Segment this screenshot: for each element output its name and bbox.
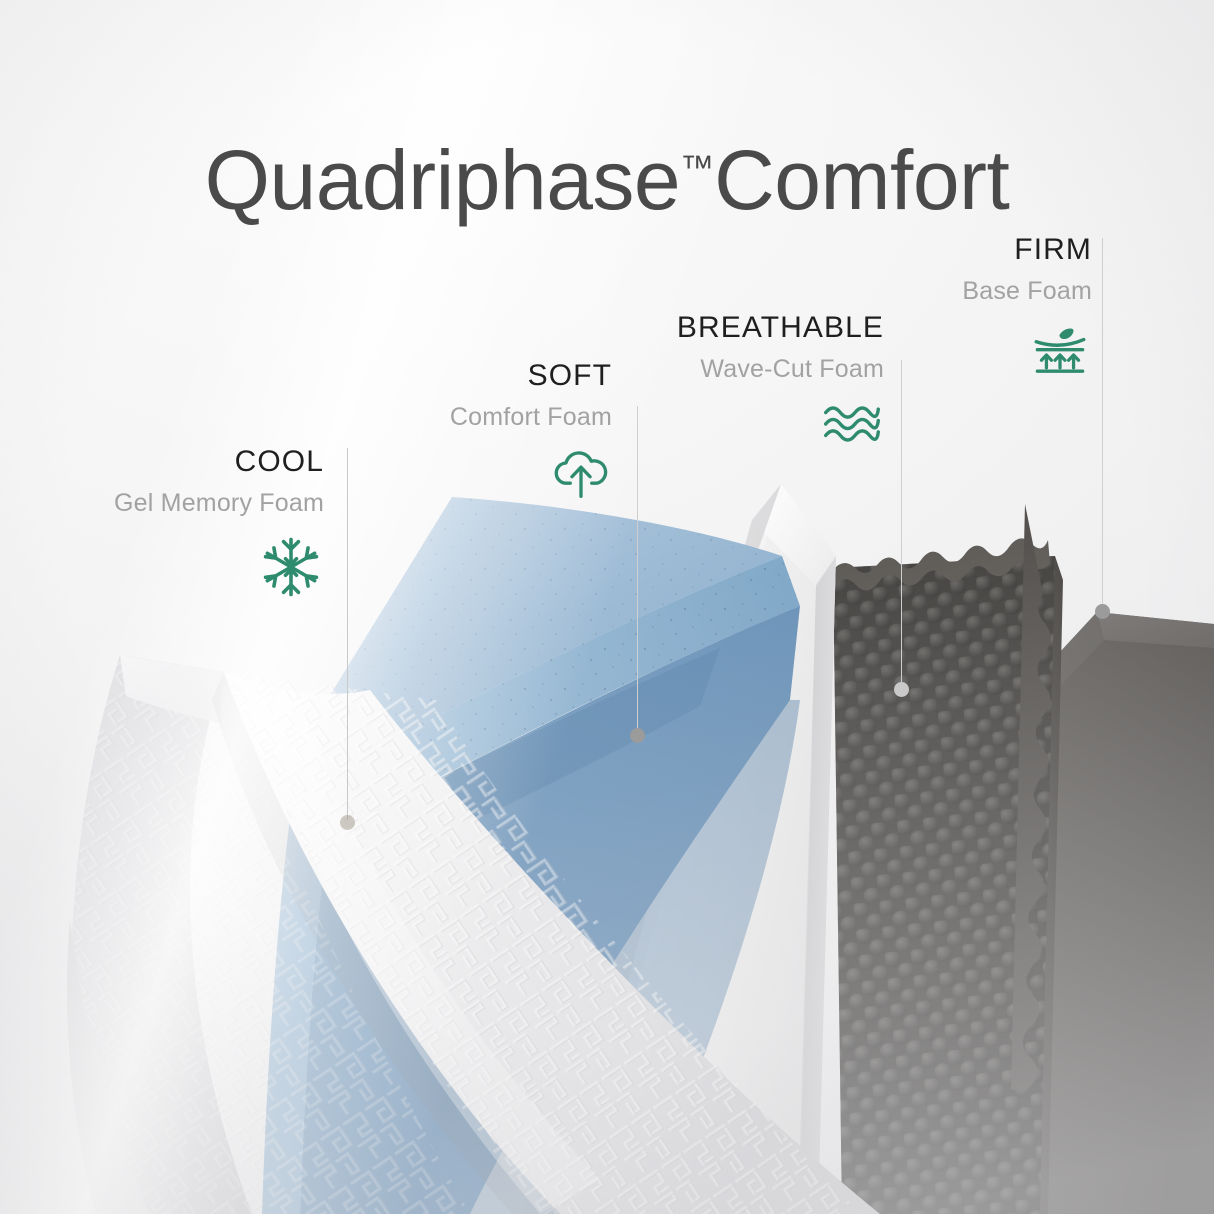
leader-dot-firm — [1095, 604, 1110, 619]
leader-line-breathable — [901, 360, 902, 682]
leader-line-cool — [347, 448, 348, 820]
callout-breathable: BREATHABLE Wave-Cut Foam — [677, 312, 884, 448]
callout-cool-subtitle: Gel Memory Foam — [114, 490, 324, 516]
leaf-support-arrows-icon — [962, 322, 1092, 374]
page-title: Quadriphase™Comfort — [0, 138, 1214, 222]
callout-cool-kicker: COOL — [114, 446, 324, 478]
trademark-symbol: ™ — [680, 149, 714, 187]
product-infographic: Quadriphase™Comfort COOL Gel Memory Foam — [0, 0, 1214, 1214]
leader-line-soft — [637, 406, 638, 728]
airflow-waves-icon — [677, 400, 884, 448]
callout-firm-subtitle: Base Foam — [962, 278, 1092, 304]
callout-breathable-kicker: BREATHABLE — [677, 312, 884, 344]
leader-dot-cool — [340, 815, 355, 830]
callout-firm-kicker: FIRM — [962, 234, 1092, 266]
title-main: Quadriphase — [205, 133, 681, 227]
callout-soft-subtitle: Comfort Foam — [450, 404, 612, 430]
leader-dot-soft — [630, 728, 645, 743]
cloud-up-arrow-icon — [450, 448, 612, 504]
title-tail: Comfort — [714, 133, 1009, 227]
callout-firm: FIRM Base Foam — [962, 234, 1092, 374]
snowflake-icon — [114, 534, 324, 600]
callout-breathable-subtitle: Wave-Cut Foam — [677, 356, 884, 382]
leader-line-firm — [1102, 238, 1103, 604]
callout-soft-kicker: SOFT — [450, 360, 612, 392]
leader-dot-breathable — [894, 682, 909, 697]
callout-soft: SOFT Comfort Foam — [450, 360, 612, 504]
callout-cool: COOL Gel Memory Foam — [114, 446, 324, 600]
